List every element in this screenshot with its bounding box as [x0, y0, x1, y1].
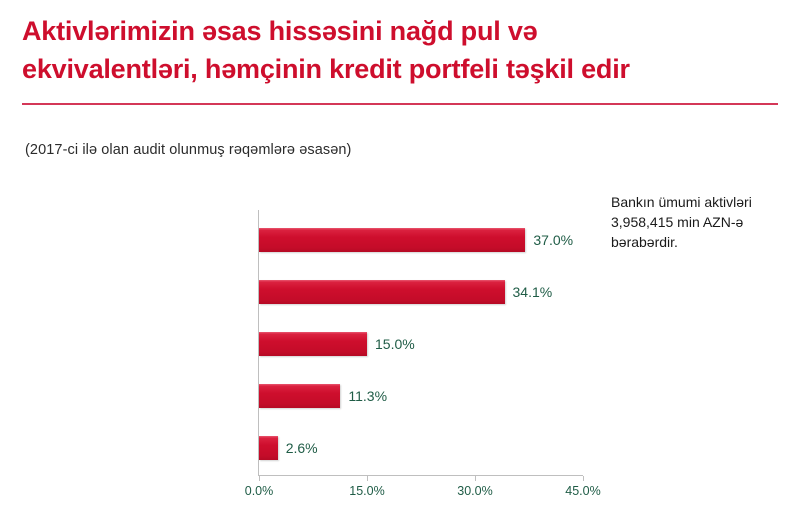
chart-x-tick-label: 15.0% — [349, 484, 384, 498]
total-assets-note-line-1: Bankın ümumi aktivləri — [611, 192, 796, 212]
page-subtitle: (2017-ci ilə olan audit olunmuş rəqəmlər… — [25, 142, 352, 158]
chart-plot-area: 37.0%34.1%15.0%11.3%2.6% — [259, 210, 583, 475]
chart-x-tick — [475, 476, 476, 481]
assets-breakdown-bar-chart: 37.0%34.1%15.0%11.3%2.6% Nağd pul və ekv… — [0, 196, 620, 506]
chart-bar-value-label: 11.3% — [348, 384, 387, 408]
page-title: Aktivlərimizin əsas hissəsini nağd pul v… — [22, 12, 722, 88]
total-assets-note-line-2: 3,958,415 min AZN-ə — [611, 212, 796, 232]
chart-x-tick — [367, 476, 368, 481]
chart-x-tick-label: 45.0% — [565, 484, 600, 498]
chart-x-tick-label: 0.0% — [245, 484, 274, 498]
chart-x-tick — [583, 476, 584, 481]
chart-bar-value-label: 15.0% — [375, 332, 415, 356]
chart-x-tick — [259, 476, 260, 481]
total-assets-note: Bankın ümumi aktivləri 3,958,415 min AZN… — [611, 192, 796, 252]
page-title-line-1: Aktivlərimizin əsas hissəsini nağd pul v… — [22, 12, 722, 50]
title-divider — [22, 103, 778, 105]
chart-x-axis-line — [258, 475, 583, 476]
chart-x-tick-label: 30.0% — [457, 484, 492, 498]
total-assets-note-line-3: bərabərdir. — [611, 232, 796, 252]
chart-bar — [259, 384, 340, 408]
chart-bar — [259, 280, 505, 304]
chart-bar-value-label: 37.0% — [533, 228, 573, 252]
chart-bar — [259, 436, 278, 460]
chart-bar-value-label: 34.1% — [513, 280, 553, 304]
chart-bar-value-label: 2.6% — [286, 436, 318, 460]
chart-bar — [259, 228, 525, 252]
chart-bar — [259, 332, 367, 356]
page-title-line-2: ekvivalentləri, həmçinin kredit portfeli… — [22, 50, 722, 88]
